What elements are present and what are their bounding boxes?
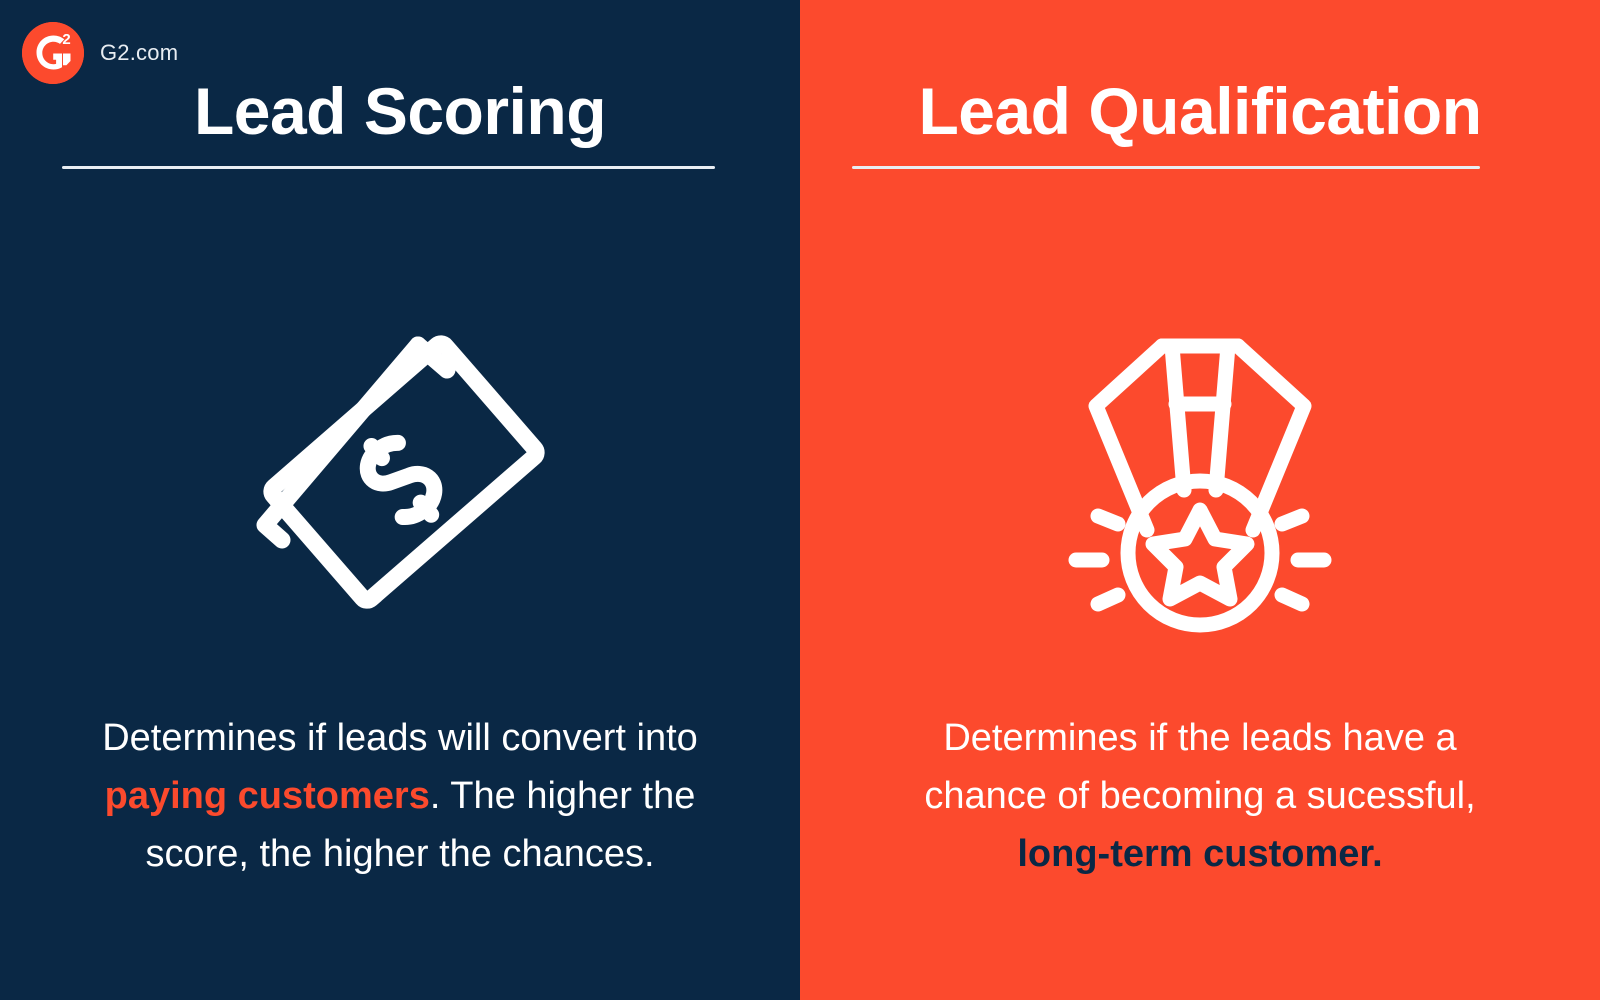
icon-zone-right	[800, 300, 1600, 670]
page-title-lead-qualification: Lead Qualification	[800, 78, 1600, 144]
description-part2: .	[1372, 833, 1383, 875]
panel-lead-qualification: Lead Qualification	[800, 0, 1600, 1000]
description-emphasis: paying customers	[105, 775, 430, 817]
title-divider-right	[852, 166, 1480, 169]
svg-text:2: 2	[62, 31, 70, 48]
title-divider-left	[62, 166, 715, 169]
g2-logo-icon: 2	[22, 22, 84, 84]
heading-zone-right: Lead Qualification	[800, 78, 1600, 169]
money-banknotes-dollar-icon	[235, 320, 565, 650]
description-part1: Determines if the leads have a chance of…	[924, 717, 1475, 817]
brand-name: G2.com	[100, 40, 178, 66]
icon-zone-left	[0, 300, 800, 670]
brand: 2 G2.com	[22, 22, 178, 84]
panel-description-left: Determines if leads will convert into pa…	[0, 710, 800, 883]
panel-lead-scoring: 2 G2.com Lead Scoring	[0, 0, 800, 1000]
panel-description-right: Determines if the leads have a chance of…	[800, 710, 1600, 883]
award-medal-star-icon	[1050, 330, 1350, 640]
page-title-lead-scoring: Lead Scoring	[0, 78, 800, 144]
description-part1: Determines if leads will convert into	[102, 717, 698, 759]
heading-zone-left: Lead Scoring	[0, 78, 800, 169]
description-emphasis: long-term customer	[1017, 833, 1372, 875]
infographic-board: 2 G2.com Lead Scoring	[0, 0, 1600, 1000]
